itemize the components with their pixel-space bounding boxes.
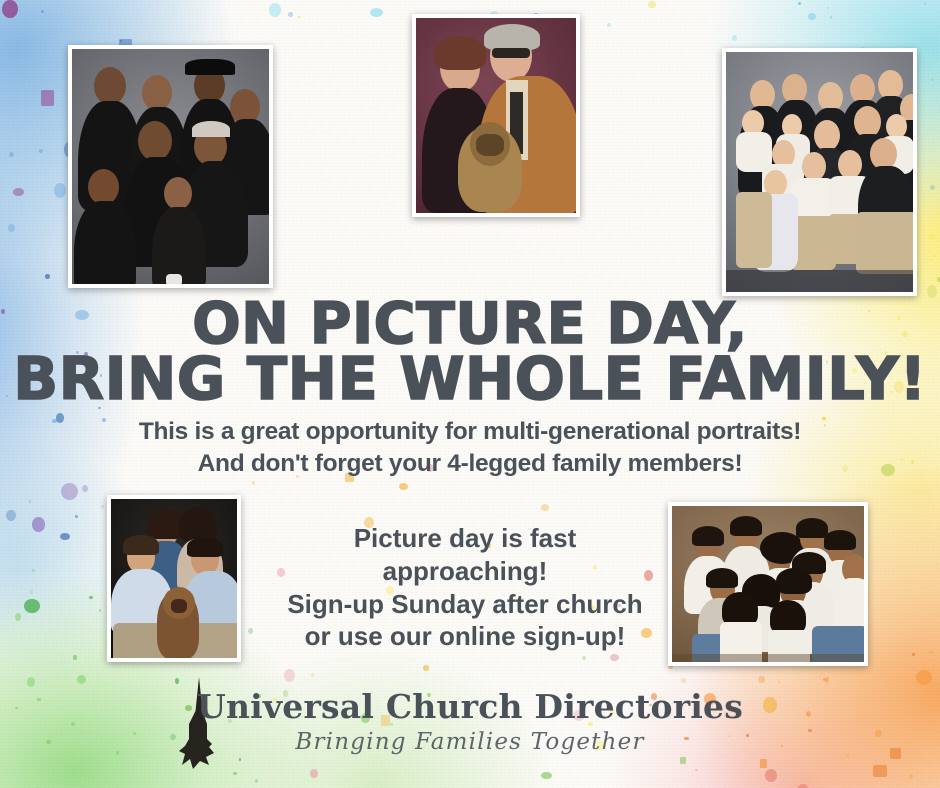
body-line-2: approaching! <box>255 555 675 588</box>
logo-tagline: Bringing Families Together <box>0 729 940 755</box>
logo-name: Universal Church Directories <box>0 690 940 723</box>
photo-bottom-right <box>668 502 868 666</box>
body-copy: Picture day is fast approaching! Sign-up… <box>255 522 675 653</box>
photo-top-right <box>722 48 917 296</box>
subheading-line-2: And don't forget your 4-legged family me… <box>0 450 940 478</box>
subheading-line-1: This is a great opportunity for multi-ge… <box>0 418 940 446</box>
headline-line-2: Bring the Whole Family! <box>0 351 940 408</box>
body-line-4: or use our online sign-up! <box>255 620 675 653</box>
photo-top-left <box>68 45 273 288</box>
logo-block: Universal Church Directories Bringing Fa… <box>0 690 940 755</box>
body-line-1: Picture day is fast <box>255 522 675 555</box>
photo-bottom-left <box>107 495 241 662</box>
poster-canvas: On Picture Day, Bring the Whole Family! … <box>0 0 940 788</box>
photo-top-center <box>412 14 580 217</box>
body-line-3: Sign-up Sunday after church <box>255 588 675 621</box>
